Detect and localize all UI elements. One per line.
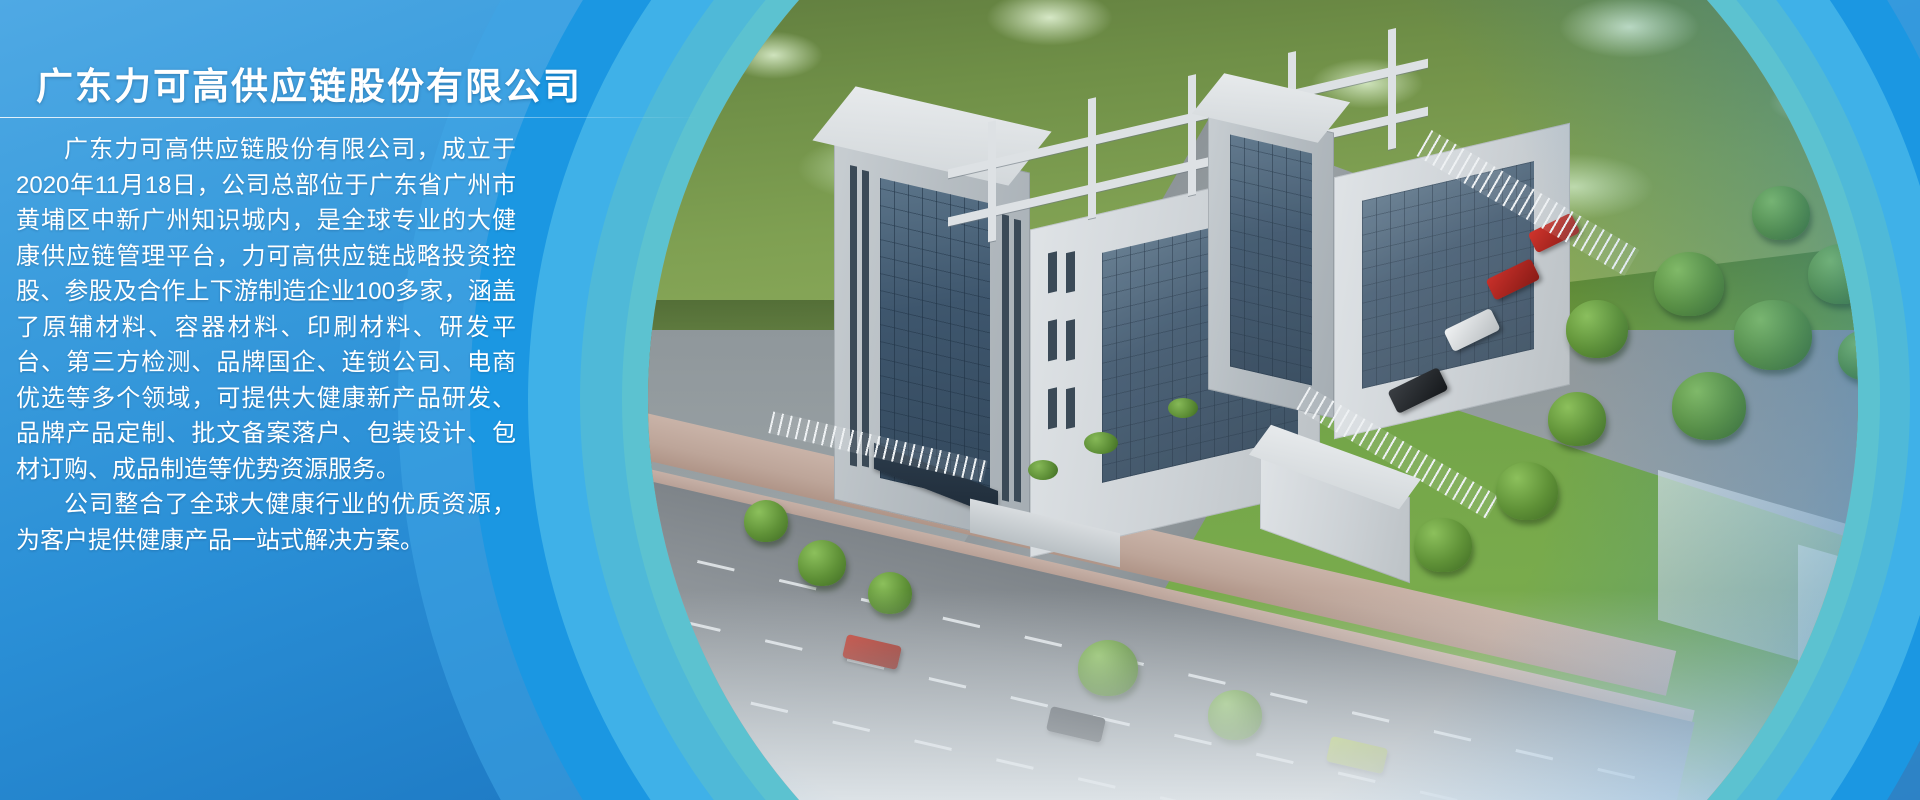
campus-aerial-photo bbox=[648, 0, 1858, 800]
photo-edge-vignette bbox=[648, 0, 1858, 800]
company-description: 广东力可高供应链股份有限公司，成立于2020年11月18日，公司总部位于广东省广… bbox=[16, 132, 516, 558]
title-divider bbox=[0, 117, 700, 118]
campus-photo-circle bbox=[648, 0, 1858, 800]
company-profile-banner: 广东力可高供应链股份有限公司 广东力可高供应链股份有限公司，成立于2020年11… bbox=[0, 0, 1920, 800]
page-title: 广东力可高供应链股份有限公司 bbox=[36, 56, 582, 110]
description-paragraph-2: 公司整合了全球大健康行业的优质资源，为客户提供健康产品一站式解决方案。 bbox=[16, 487, 516, 558]
text-column: 广东力可高供应链股份有限公司 广东力可高供应链股份有限公司，成立于2020年11… bbox=[0, 0, 700, 800]
description-paragraph-1: 广东力可高供应链股份有限公司，成立于2020年11月18日，公司总部位于广东省广… bbox=[16, 132, 516, 487]
